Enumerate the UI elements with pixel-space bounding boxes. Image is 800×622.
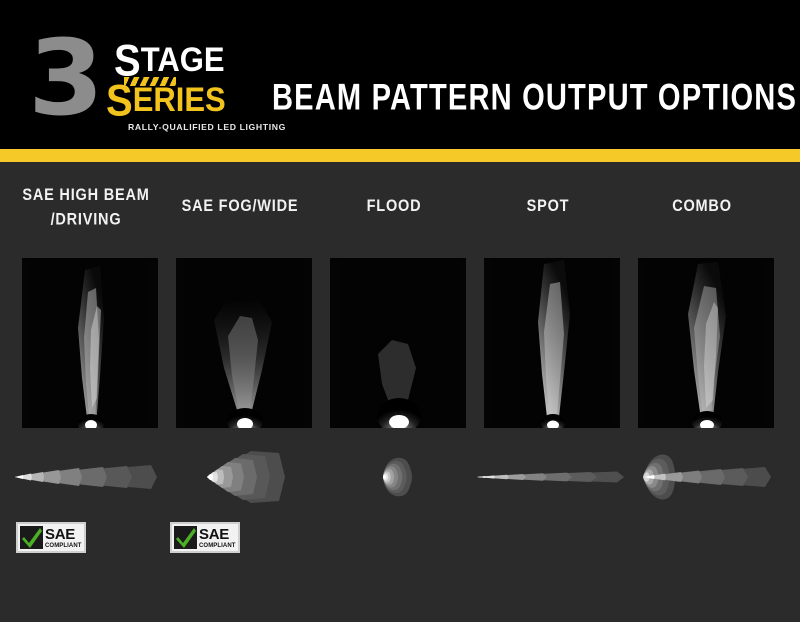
header-divider xyxy=(0,149,800,162)
badge-title: SAE xyxy=(45,527,82,542)
beam-pattern-diagram xyxy=(9,444,163,510)
badge-subtitle: COMPLIANT xyxy=(199,543,236,549)
beam-pattern-diagram xyxy=(163,444,317,510)
brand-logo: 3 STAGE SERIES RALLY-QUALIFIED LED LIGHT… xyxy=(28,30,253,130)
beam-column-spot: SPOT xyxy=(471,162,625,562)
check-icon xyxy=(20,526,43,549)
beam-photo xyxy=(484,258,620,428)
beam-photo xyxy=(330,258,466,428)
beam-column-combo: COMBO xyxy=(625,162,779,562)
beam-label-line1: FLOOD xyxy=(367,197,422,215)
logo-wordmark: STAGE SERIES RALLY-QUALIFIED LED LIGHTIN… xyxy=(106,42,256,134)
beam-label-line1: SPOT xyxy=(527,197,570,215)
beam-pattern-diagram xyxy=(625,444,779,510)
badge-subtitle: COMPLIANT xyxy=(45,543,82,549)
sae-compliant-badge: SAE COMPLIANT xyxy=(170,522,240,553)
beam-column-sae-fog-wide: SAE FOG/WIDE xyxy=(163,162,317,562)
beam-label-line1: COMBO xyxy=(672,197,732,215)
beam-options-grid: SAE HIGH BEAM /DRIVING xyxy=(0,162,800,622)
beam-photo-render xyxy=(184,258,304,428)
logo-tagline: RALLY-QUALIFIED LED LIGHTING xyxy=(128,122,286,132)
check-icon xyxy=(174,526,197,549)
beam-photo xyxy=(22,258,158,428)
beam-column-sae-high-beam-driving: SAE HIGH BEAM /DRIVING xyxy=(9,162,163,562)
logo-numeral: 3 xyxy=(28,26,98,130)
logo-stage-rest: TAGE xyxy=(141,40,225,79)
logo-stage-text: STAGE xyxy=(114,42,225,79)
beam-label: SPOT xyxy=(471,195,625,219)
beam-label-line1: SAE FOG/WIDE xyxy=(182,197,299,215)
beam-label-line1: SAE HIGH BEAM xyxy=(22,186,149,204)
beam-photo xyxy=(176,258,312,428)
beam-column-flood: FLOOD xyxy=(317,162,471,562)
beam-photo-render xyxy=(646,258,766,428)
beam-label: SAE FOG/WIDE xyxy=(163,195,317,219)
logo-series-text: SERIES xyxy=(106,82,226,119)
beam-photo-render xyxy=(338,258,458,428)
beam-label: SAE HIGH BEAM /DRIVING xyxy=(9,184,163,232)
header-bar: 3 STAGE SERIES RALLY-QUALIFIED LED LIGHT… xyxy=(0,0,800,149)
beam-pattern-diagram xyxy=(471,444,625,510)
beam-photo-render xyxy=(30,258,150,428)
beam-pattern-diagram xyxy=(317,444,471,510)
beam-label: FLOOD xyxy=(317,195,471,219)
beam-photo-render xyxy=(492,258,612,428)
beam-photo xyxy=(638,258,774,428)
logo-series-rest: ERIES xyxy=(133,80,226,119)
sae-compliant-badge: SAE COMPLIANT xyxy=(16,522,86,553)
beam-label-line2: /DRIVING xyxy=(51,210,122,228)
beam-label: COMBO xyxy=(625,195,779,219)
page-title: BEAM PATTERN OUTPUT OPTIONS xyxy=(272,78,797,118)
badge-title: SAE xyxy=(199,527,236,542)
